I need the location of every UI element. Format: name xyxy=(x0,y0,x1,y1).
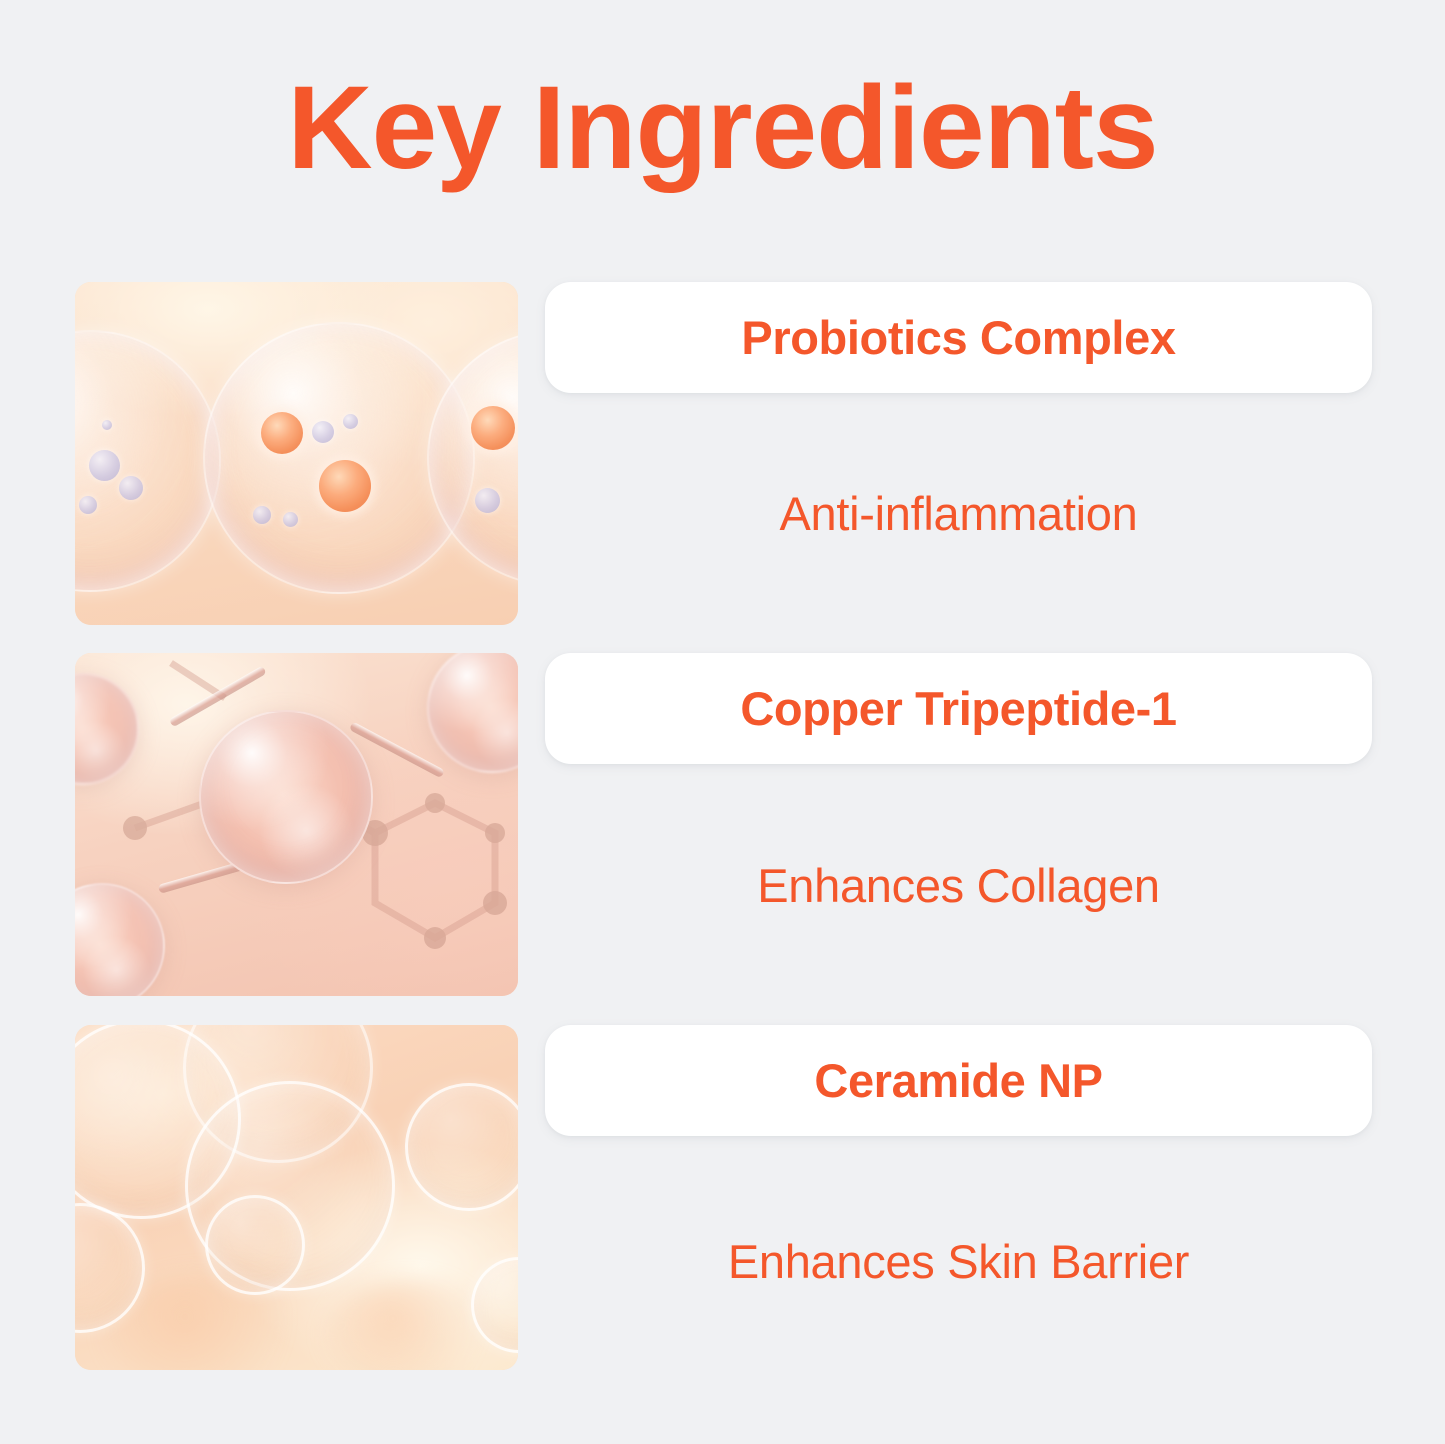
microsphere xyxy=(89,450,120,481)
molecule-structure-image xyxy=(75,653,518,996)
page-title: Key Ingredients xyxy=(0,62,1445,194)
key-ingredients-infographic: Key Ingredients Probi xyxy=(0,0,1445,1444)
ingredient-benefit-probiotics: Anti-inflammation xyxy=(545,486,1372,541)
ceramide-blur-blob xyxy=(325,1280,495,1370)
probiotic-granule xyxy=(319,460,371,512)
ingredient-row-ceramide: Ceramide NP xyxy=(0,1025,1445,1370)
ingredient-name-label: Ceramide NP xyxy=(814,1053,1102,1108)
ingredient-row-copper-tripeptide: Copper Tripeptide-1 xyxy=(0,653,1445,996)
ingredient-name-label: Copper Tripeptide-1 xyxy=(740,681,1176,736)
microsphere xyxy=(253,506,271,524)
molecule-sphere-center xyxy=(199,710,373,884)
ceramide-bubbles-image xyxy=(75,1025,518,1370)
ceramide-bubble xyxy=(405,1083,518,1211)
probiotic-granule xyxy=(261,412,303,454)
probiotics-image-art xyxy=(75,282,518,625)
microsphere xyxy=(119,476,143,500)
ingredient-row-probiotics: Probiotics Complex xyxy=(0,282,1445,625)
microsphere xyxy=(343,414,358,429)
ingredient-name-label: Probiotics Complex xyxy=(741,310,1175,365)
ingredient-name-card-probiotics: Probiotics Complex xyxy=(545,282,1372,393)
ingredient-benefit-copper-tripeptide: Enhances Collagen xyxy=(545,858,1372,913)
ceramide-bubble xyxy=(205,1195,305,1295)
ingredient-name-card-ceramide: Ceramide NP xyxy=(545,1025,1372,1136)
microsphere xyxy=(283,512,298,527)
ingredient-benefit-ceramide: Enhances Skin Barrier xyxy=(545,1234,1372,1289)
probiotic-granule xyxy=(471,406,515,450)
microsphere xyxy=(475,488,500,513)
microsphere xyxy=(102,420,112,430)
probiotics-cells-image xyxy=(75,282,518,625)
ingredient-name-card-copper-tripeptide: Copper Tripeptide-1 xyxy=(545,653,1372,764)
microsphere xyxy=(79,496,97,514)
molecule-image-art xyxy=(75,653,518,996)
microsphere xyxy=(312,421,334,443)
ceramide-image-art xyxy=(75,1025,518,1370)
